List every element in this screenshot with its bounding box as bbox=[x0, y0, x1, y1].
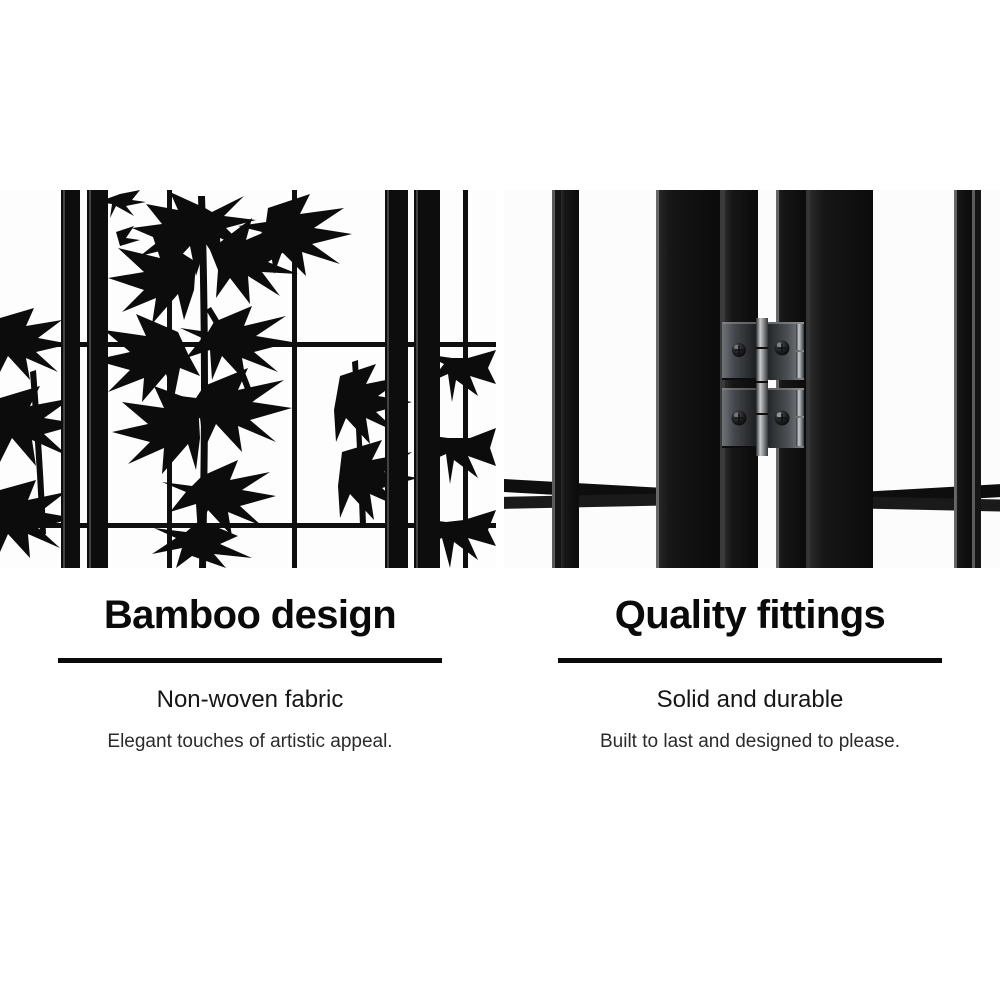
feature-headline: Quality fittings bbox=[500, 590, 1000, 640]
divider-frame-post bbox=[87, 190, 108, 568]
divider-frame-post bbox=[385, 190, 408, 568]
image-gap-divider bbox=[496, 190, 504, 568]
media-band bbox=[0, 190, 1000, 568]
metal-hinge bbox=[720, 318, 810, 456]
bamboo-screen-scene bbox=[0, 190, 496, 568]
feature-subhead: Solid and durable bbox=[500, 685, 1000, 715]
product-feature-infographic: Bamboo design Non-woven fabric Elegant t… bbox=[0, 0, 1000, 1000]
divider-frame-post bbox=[61, 190, 80, 568]
feature-block-quality-fittings: Quality fittings Solid and durable Built… bbox=[500, 590, 1000, 780]
hinge-closeup-scene bbox=[504, 190, 1000, 568]
bamboo-design-image bbox=[0, 190, 496, 568]
feature-blurb: Elegant touches of artistic appeal. bbox=[0, 729, 500, 755]
divider-frame-post bbox=[656, 190, 720, 568]
feature-subhead: Non-woven fabric bbox=[0, 685, 500, 715]
divider-frame-post bbox=[561, 190, 579, 568]
feature-block-bamboo-design: Bamboo design Non-woven fabric Elegant t… bbox=[0, 590, 500, 780]
divider-frame-post bbox=[810, 190, 873, 568]
copy-band: Bamboo design Non-woven fabric Elegant t… bbox=[0, 590, 1000, 780]
divider-frame-post bbox=[954, 190, 972, 568]
divider-frame-post bbox=[972, 190, 981, 568]
feature-divider-rule bbox=[58, 658, 442, 663]
feature-divider-rule bbox=[558, 658, 942, 663]
divider-frame-post bbox=[552, 190, 561, 568]
quality-fittings-image bbox=[504, 190, 1000, 568]
divider-frame-post bbox=[414, 190, 440, 568]
hinge-icon bbox=[720, 318, 810, 456]
feature-headline: Bamboo design bbox=[0, 590, 500, 640]
feature-blurb: Built to last and designed to please. bbox=[500, 729, 1000, 755]
